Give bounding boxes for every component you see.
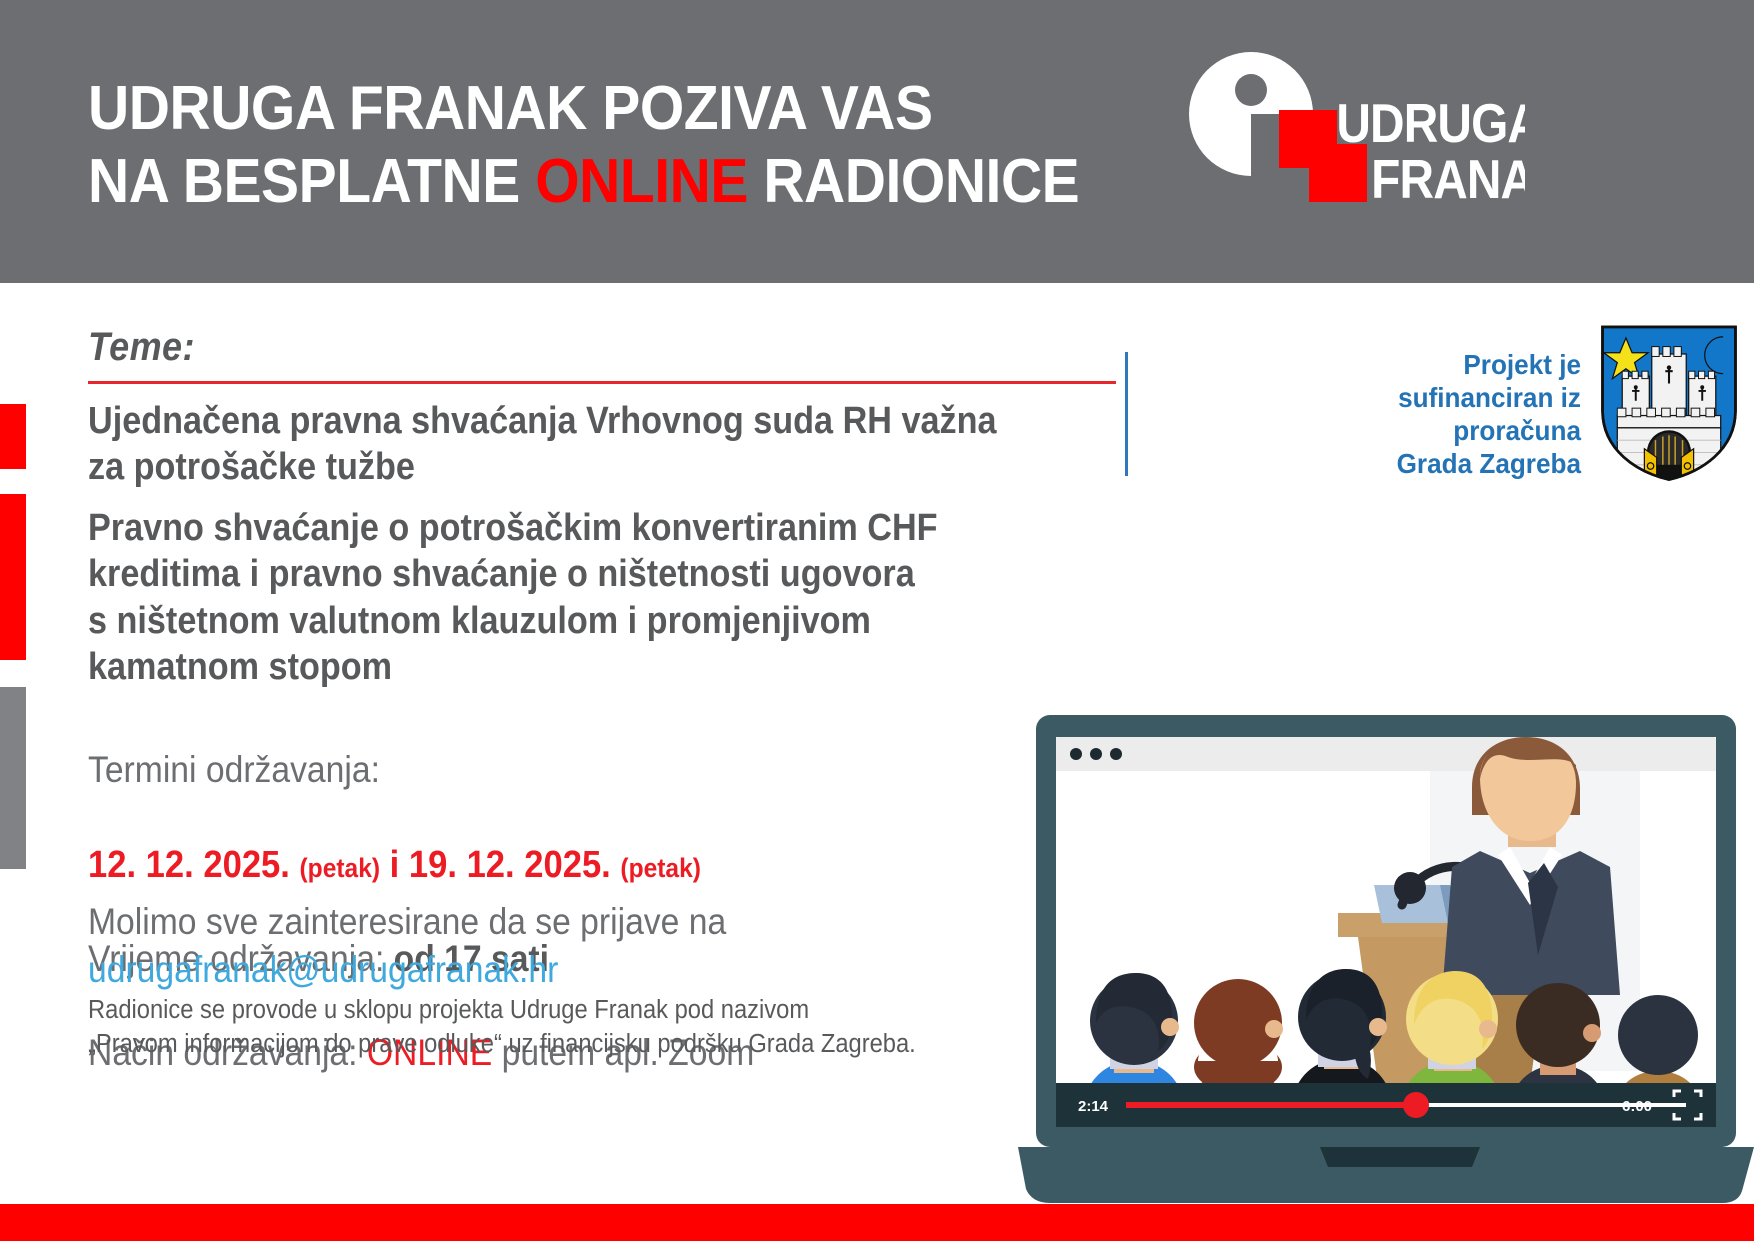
title-highlight-online: ONLINE xyxy=(535,147,748,216)
header-banner: UDRUGA FRANAK POZIVA VASNA BESPLATNE ONL… xyxy=(0,0,1754,283)
window-dot-icon xyxy=(1070,748,1082,760)
laptop-webinar-illustration: 2:14 6:00 xyxy=(1010,655,1754,1215)
video-current-time: 2:14 xyxy=(1078,1098,1109,1115)
dates-label: Termini održavanja: xyxy=(88,747,998,794)
funding-divider xyxy=(1125,352,1128,476)
poster-root: UDRUGA FRANAK POZIVA VASNA BESPLATNE ONL… xyxy=(0,0,1754,1241)
edge-accent-grey xyxy=(0,687,26,869)
svg-text:FRANAK: FRANAK xyxy=(1371,148,1525,208)
video-total-time: 6:00 xyxy=(1622,1098,1652,1115)
svg-text:UDRUGA: UDRUGA xyxy=(1336,92,1525,154)
video-controls-bar: 2:14 6:00 xyxy=(1056,1083,1716,1127)
dates-conjunction: i xyxy=(390,844,400,886)
topics-divider xyxy=(88,381,1116,384)
apply-block: Molimo sve zainteresirane da se prijave … xyxy=(88,898,998,994)
topics-label: Teme: xyxy=(88,325,195,370)
funding-block: Projekt je sufinanciran iz proračuna Gra… xyxy=(1178,348,1754,478)
window-dot-icon xyxy=(1090,748,1102,760)
bottom-accent-bar xyxy=(0,1204,1754,1241)
funding-text: Projekt je sufinanciran iz proračuna Gra… xyxy=(1258,348,1581,480)
footnote-text: Radionice se provode u sklopu projekta U… xyxy=(88,994,1092,1061)
edge-accent-red-top xyxy=(0,404,26,469)
title-line-2-suffix: RADIONICE xyxy=(748,147,1079,216)
date-1: 12. 12. 2025. xyxy=(88,844,290,886)
title-line-1: UDRUGA FRANAK POZIVA VAS xyxy=(88,74,933,143)
date-2-weekday: (petak) xyxy=(620,853,701,883)
date-2: 19. 12. 2025. xyxy=(409,844,611,886)
browser-chrome-bar xyxy=(1056,737,1716,771)
contact-email-link[interactable]: udrugafranak@udrugafranak.hr xyxy=(88,946,998,994)
video-progress-handle xyxy=(1403,1092,1429,1118)
page-title: UDRUGA FRANAK POZIVA VASNA BESPLATNE ONL… xyxy=(88,72,1082,218)
topic-item-1: Ujednačena pravna shvaćanja Vrhovnog sud… xyxy=(88,398,1123,491)
laptop-notch xyxy=(1320,1147,1480,1167)
title-line-2-prefix: NA BESPLATNE xyxy=(88,147,535,216)
date-1-weekday: (petak) xyxy=(300,853,381,883)
udruga-franak-logo: UDRUGA FRANAK xyxy=(1185,48,1525,208)
video-progress-fill xyxy=(1126,1102,1416,1108)
window-dot-icon xyxy=(1110,748,1122,760)
apply-text: Molimo sve zainteresirane da se prijave … xyxy=(88,901,726,942)
zagreb-coat-of-arms-icon xyxy=(1594,322,1744,482)
topic-item-2: Pravno shvaćanje o potrošačkim konvertir… xyxy=(88,505,1123,690)
edge-accent-red-bottom xyxy=(0,494,26,660)
dates-value: 12. 12. 2025. (petak) i 19. 12. 2025. (p… xyxy=(88,841,998,889)
